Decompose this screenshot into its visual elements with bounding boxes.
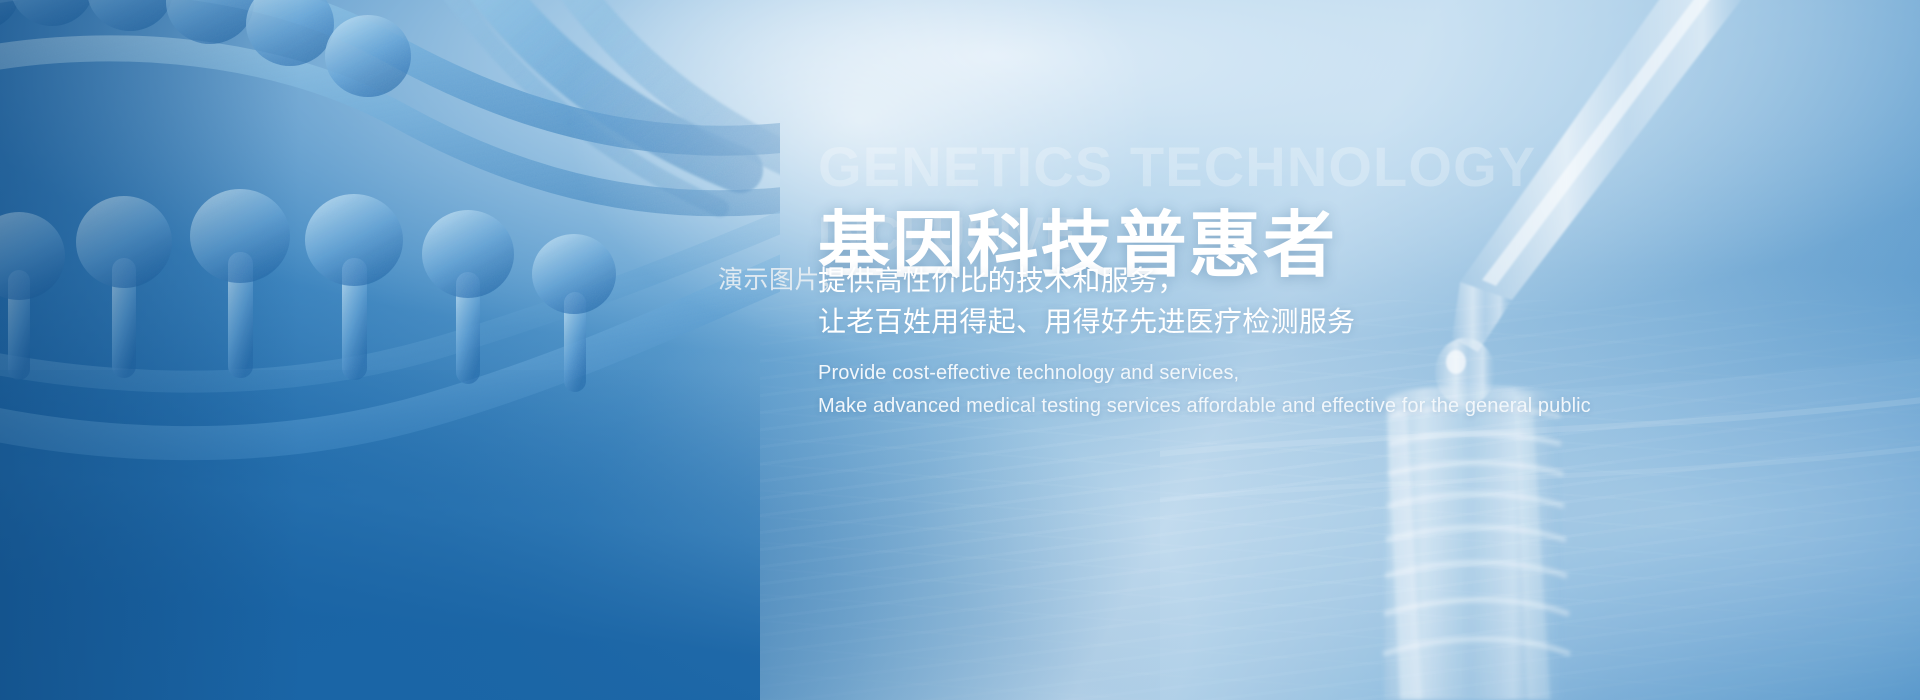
banner-copy: GENETICS TECHNOLOGY INCLUSIVE 基因科技普惠者 演示… <box>818 0 1920 700</box>
banner-english-line-2: Make advanced medical testing services a… <box>818 391 1591 421</box>
watermark-genetics-technology: GENETICS TECHNOLOGY <box>818 139 1536 195</box>
banner-english-line-1: Provide cost-effective technology and se… <box>818 358 1239 388</box>
left-vignette <box>0 0 300 700</box>
banner-subtitle-line-2: 让老百姓用得起、用得好先进医疗检测服务 <box>818 303 1355 341</box>
hero-banner: GENETICS TECHNOLOGY INCLUSIVE 基因科技普惠者 演示… <box>0 0 1920 700</box>
banner-subtitle-line-1: 提供高性价比的技术和服务， <box>818 262 1186 300</box>
